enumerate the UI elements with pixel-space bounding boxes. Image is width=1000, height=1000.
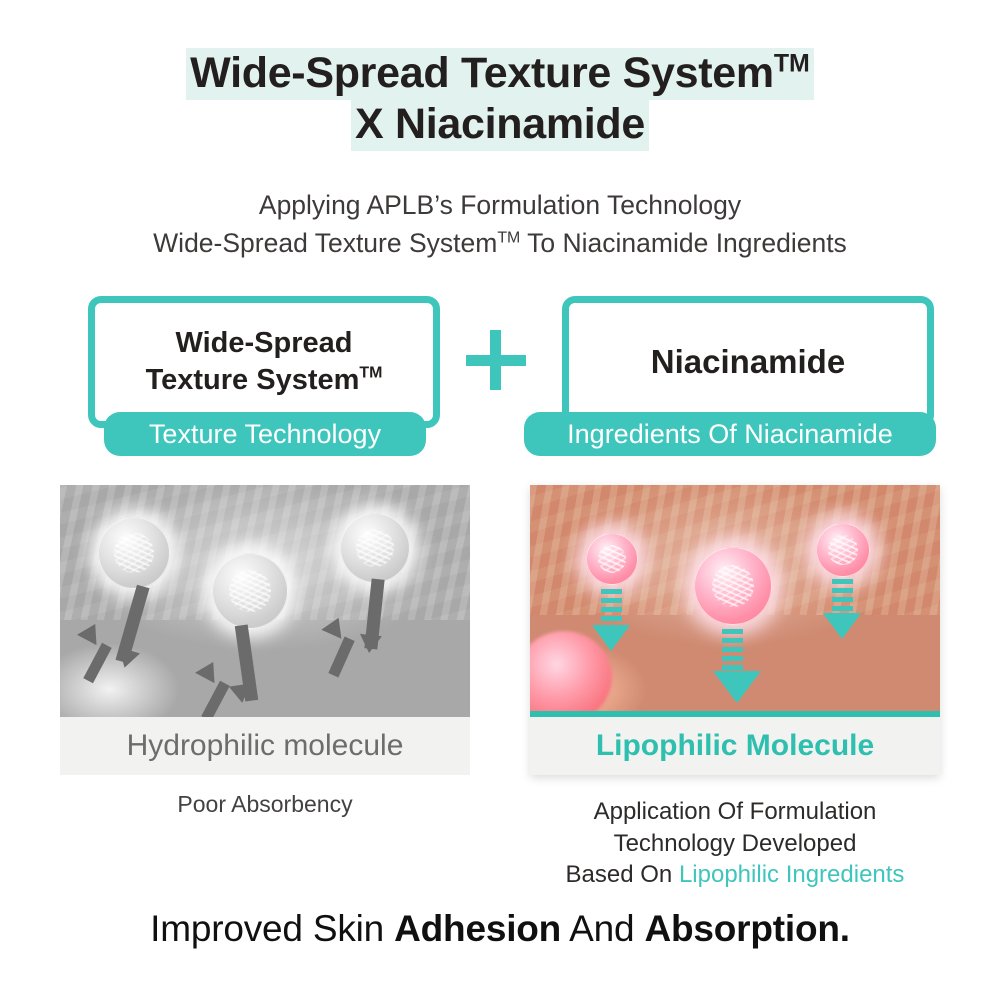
footer-bold-adhesion: Adhesion [394,908,561,949]
footer-statement: Improved Skin Adhesion And Absorption. [0,908,1000,950]
panel-hydrophilic: Hydrophilic molecule [60,485,470,775]
footer-part-1: Improved Skin [150,908,394,949]
arrow-down-teal-1 [592,625,630,651]
card-left-line-1: Wide-Spread [175,327,352,359]
trademark-symbol: TM [497,230,520,247]
arrow-down-gray-2-head [229,684,253,705]
panel-lipophilic: Lipophilic Molecule [530,485,940,775]
arrow-down-teal-3 [823,613,861,639]
arrow-stem-teal-1 [601,589,622,627]
sub-caption-poor-absorbency: Poor Absorbency [60,791,470,818]
title-line-1-text: Wide-Spread Texture System [190,49,774,97]
caption-lipophilic-text: Lipophilic Molecule [596,729,874,763]
molecule-pink-2 [694,547,772,625]
footer-bold-absorption: Absorption. [644,908,849,949]
trademark-symbol: TM [359,365,382,382]
title-line-2: X Niacinamide [0,99,1000,150]
sub-caption-lipophilic: Application Of Formulation Technology De… [520,796,950,891]
arrow-down-teal-2 [713,671,761,703]
plus-icon [466,330,526,390]
arrow-stem-teal-3 [832,579,853,615]
hydrophilic-illustration [60,485,470,717]
footer-part-2: And [561,908,644,949]
molecule-pink-1 [586,533,638,585]
sub-caption-line-2: Technology Developed [520,828,950,860]
subtitle: Applying APLB’s Formulation Technology W… [0,186,1000,263]
subtitle-line-2-a: Wide-Spread Texture System [153,228,497,258]
molecule-gray-2 [212,553,288,629]
arrow-stem-teal-2 [722,629,743,673]
badge-texture-technology: Texture Technology [104,412,426,456]
sub-caption-line-3-a: Based On [566,861,679,888]
subtitle-line-1: Applying APLB’s Formulation Technology [0,186,1000,224]
sub-caption-line-3: Based On Lipophilic Ingredients [520,859,950,891]
trademark-symbol: TM [774,50,810,78]
caption-bar-hydrophilic: Hydrophilic molecule [60,717,470,775]
sub-caption-line-1: Application Of Formulation [520,796,950,828]
card-left-line-2: Texture System [146,364,360,396]
lipophilic-illustration [530,485,940,717]
infographic-page: Wide-Spread Texture SystemTM X Niacinami… [0,0,1000,1000]
sub-caption-highlight: Lipophilic Ingredients [679,861,904,888]
badge-ingredients-of-niacinamide: Ingredients Of Niacinamide [524,412,936,456]
card-texture-system: Wide-Spread Texture SystemTM [88,296,440,428]
card-niacinamide-title: Niacinamide [651,341,845,383]
caption-bar-lipophilic: Lipophilic Molecule [530,717,940,775]
subtitle-line-2-b: To Niacinamide Ingredients [520,228,847,258]
molecule-gray-1 [98,517,170,589]
card-niacinamide: Niacinamide [562,296,934,428]
molecule-gray-3 [340,513,410,583]
arrow-down-gray-3-head [358,634,382,654]
molecule-pink-3 [816,523,870,577]
subtitle-line-2: Wide-Spread Texture SystemTM To Niacinam… [0,224,1000,262]
caption-hydrophilic-text: Hydrophilic molecule [127,729,404,763]
page-title: Wide-Spread Texture SystemTM X Niacinami… [0,48,1000,149]
card-texture-system-title: Wide-Spread Texture SystemTM [146,325,383,399]
title-line-2-text: X Niacinamide [351,99,649,151]
title-line-1: Wide-Spread Texture SystemTM [0,48,1000,99]
